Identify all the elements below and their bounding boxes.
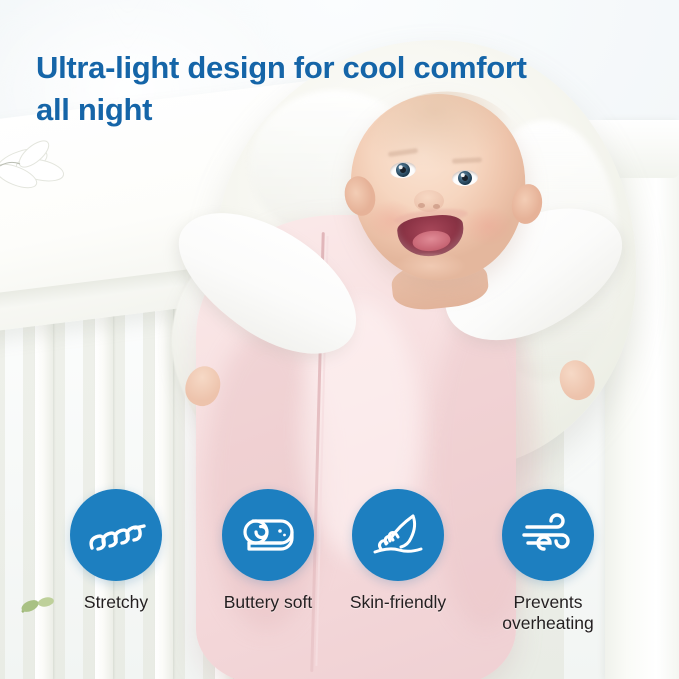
feature-buttery-soft: Buttery soft bbox=[193, 489, 343, 613]
feature-row: Stretchy Buttery soft bbox=[0, 489, 679, 679]
wind-airflow-icon bbox=[502, 489, 594, 581]
fabric-roll-icon bbox=[222, 489, 314, 581]
hand-touch-icon bbox=[352, 489, 444, 581]
feature-stretchy: Stretchy bbox=[41, 489, 191, 613]
feature-label: Buttery soft bbox=[224, 592, 313, 613]
feature-label: Prevents overheating bbox=[502, 592, 593, 634]
baby-hand-right bbox=[555, 356, 600, 405]
product-feature-image: Ultra-light design for cool comfort all … bbox=[0, 0, 679, 679]
feature-skin-friendly: Skin-friendly bbox=[323, 489, 473, 613]
baby-cheek-right bbox=[462, 206, 514, 246]
baby-chin bbox=[396, 252, 466, 280]
feature-prevents-overheating: Prevents overheating bbox=[473, 489, 623, 634]
feature-label: Skin-friendly bbox=[350, 592, 446, 613]
page-title: Ultra-light design for cool comfort all … bbox=[36, 47, 556, 131]
feature-label: Stretchy bbox=[84, 592, 148, 613]
spring-coil-icon bbox=[70, 489, 162, 581]
